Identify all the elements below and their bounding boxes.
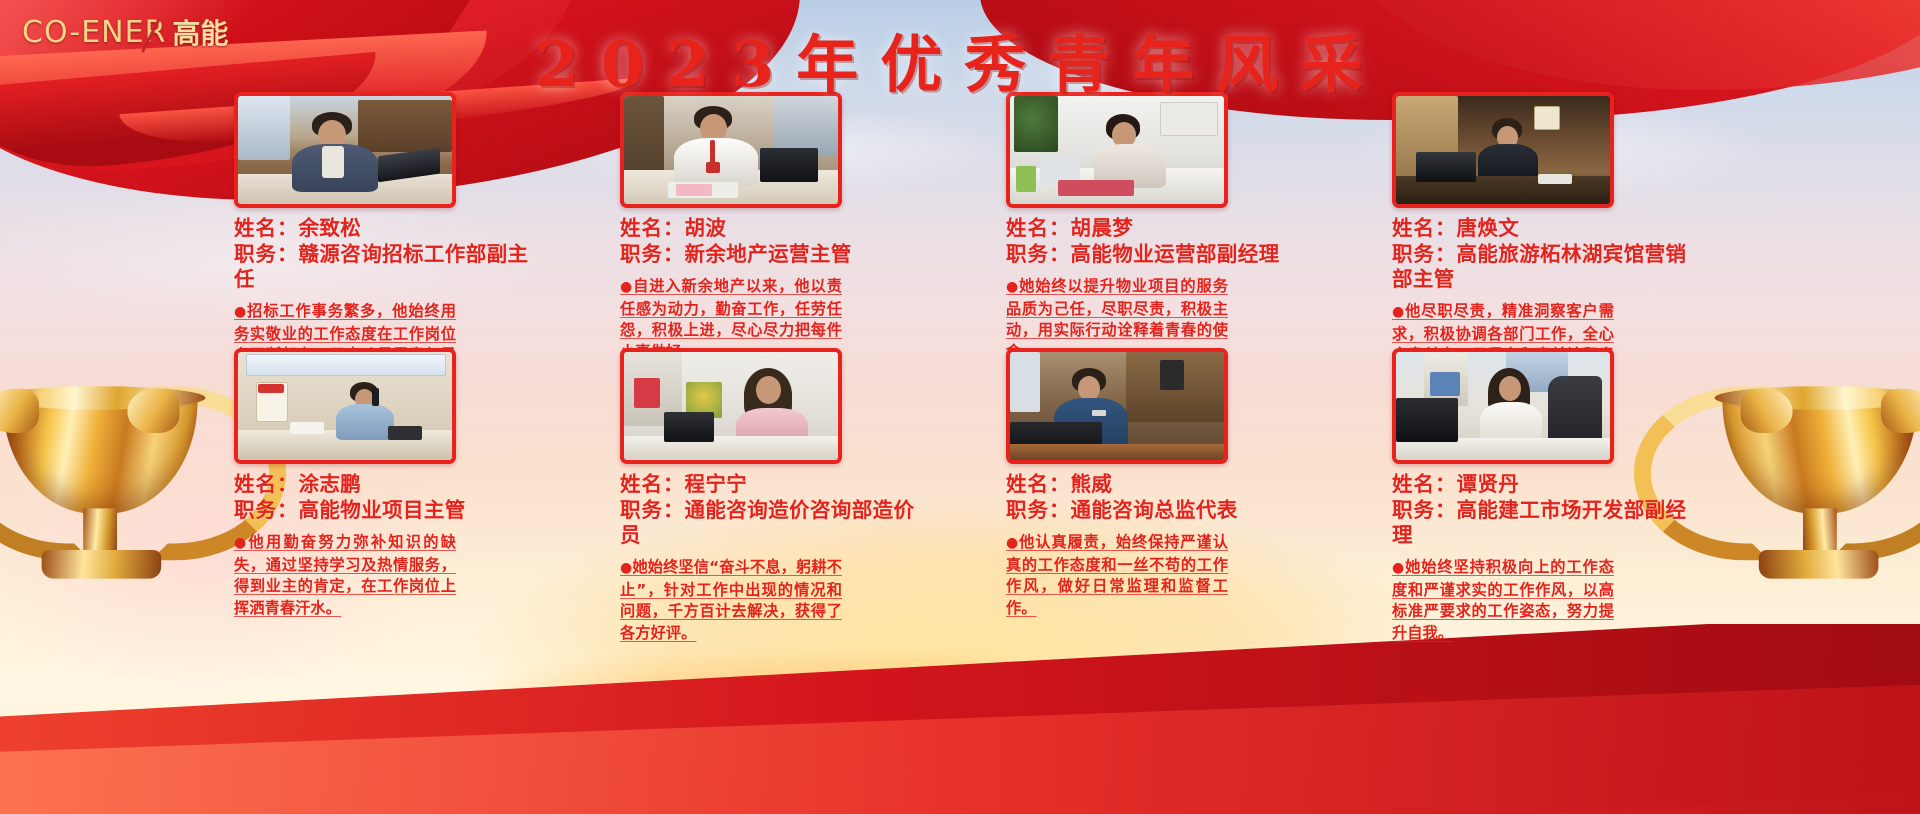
profile-name-line: 姓名：谭贤丹 (1392, 472, 1692, 497)
description-text: 他用勤奋努力弥补知识的缺失，通过坚持学习及热情服务，得到业主的肯定，在工作岗位上… (234, 533, 456, 617)
person-name: 熊威 (1071, 472, 1113, 496)
person-role: 高能物业运营部副经理 (1071, 242, 1280, 266)
photo-scene-man-at-desk-with-laptop (238, 96, 452, 204)
profile-photo (620, 348, 842, 464)
trophy-ornament-left (1881, 389, 1920, 433)
person-role: 高能物业项目主管 (299, 498, 466, 522)
profile-role-line: 职务：赣源咨询招标工作部副主任 (234, 242, 534, 292)
profile-card: 姓名：程宁宁 职务：通能咨询造价咨询部造价员 ●她始终坚信“奋斗不息，躬耕不止”… (620, 348, 920, 600)
trophy-rim (0, 386, 205, 409)
role-label: 职务： (1392, 242, 1457, 266)
trophy-ornament-right (1741, 389, 1793, 433)
profile-photo (620, 92, 842, 208)
person-name: 胡波 (685, 216, 727, 240)
bottom-ribbon-band-3 (485, 646, 1920, 814)
profile-role-line: 职务：高能旅游柘林湖宾馆营销部主管 (1392, 242, 1692, 292)
trophy-base (42, 550, 162, 579)
description-text: 他认真履责，始终保持严谨认真的工作态度和一丝不苟的工作作风，做好日常监理和监督工… (1006, 533, 1228, 617)
photo-scene-man-at-hotel-front-desk (1396, 96, 1610, 204)
person-name: 谭贤丹 (1457, 472, 1520, 496)
bottom-ribbon (0, 624, 1920, 814)
profile-photo (1392, 92, 1614, 208)
role-label: 职务： (1392, 498, 1457, 522)
trophy-stem (1803, 508, 1837, 552)
bullet-icon: ● (1006, 279, 1019, 295)
profile-role-line: 职务：通能咨询造价咨询部造价员 (620, 498, 920, 548)
name-label: 姓名： (234, 472, 299, 496)
bullet-icon: ● (1392, 560, 1405, 576)
profile-card: 姓名：胡晨梦 职务：高能物业运营部副经理 ●她始终以提升物业项目的服务品质为己任… (1006, 92, 1306, 344)
profile-card: 姓名：余致松 职务：赣源咨询招标工作部副主任 ●招标工作事务繁多，他始终用务实敬… (234, 92, 534, 344)
profile-name-line: 姓名：熊威 (1006, 472, 1306, 497)
photo-scene-woman-in-white-shirt-at-desk (1396, 352, 1610, 460)
name-label: 姓名： (1392, 472, 1457, 496)
profile-role-line: 职务：高能物业项目主管 (234, 498, 534, 523)
role-label: 职务： (620, 242, 685, 266)
trophy-handle-left (1829, 386, 1920, 560)
profile-name-line: 姓名：涂志鹏 (234, 472, 534, 497)
profile-photo (1006, 92, 1228, 208)
bullet-icon: ● (1006, 535, 1019, 551)
person-name: 涂志鹏 (299, 472, 362, 496)
role-label: 职务： (620, 498, 685, 522)
trophy-handle-left (0, 386, 91, 560)
profile-card: 姓名：熊威 职务：通能咨询总监代表 ●他认真履责，始终保持严谨认真的工作态度和一… (1006, 348, 1306, 600)
profile-role-line: 职务：高能物业运营部副经理 (1006, 242, 1306, 267)
profile-card-grid: 姓名：余致松 职务：赣源咨询招标工作部副主任 ●招标工作事务繁多，他始终用务实敬… (234, 92, 1694, 600)
profile-role-line: 职务：新余地产运营主管 (620, 242, 920, 267)
profile-description: ●她始终坚信“奋斗不息，躬耕不止”，针对工作中出现的情况和问题，千方百计去解决，… (620, 557, 842, 644)
person-name: 胡晨梦 (1071, 216, 1134, 240)
trophy-ornament-left (0, 389, 39, 433)
trophy-base (1759, 550, 1879, 579)
bullet-icon: ● (620, 279, 633, 295)
trophy-rim (1715, 386, 1920, 409)
person-name: 余致松 (299, 216, 362, 240)
profile-name-line: 姓名：程宁宁 (620, 472, 920, 497)
profile-name-line: 姓名：胡晨梦 (1006, 216, 1306, 241)
profile-card: 姓名：涂志鹏 职务：高能物业项目主管 ●他用勤奋努力弥补知识的缺失，通过坚持学习… (234, 348, 534, 600)
name-label: 姓名： (1392, 216, 1457, 240)
bullet-icon: ● (620, 560, 632, 576)
role-label: 职务： (1006, 498, 1071, 522)
bottom-glow (320, 624, 1320, 774)
bottom-ribbon-band-1 (0, 624, 1920, 814)
person-name: 唐焕文 (1457, 216, 1520, 240)
poster-canvas: CO-ENER 高能 2023年优秀青年风采 (0, 0, 1920, 814)
profile-role-line: 职务：高能建工市场开发部副经理 (1392, 498, 1692, 548)
trophy-ornament-right (127, 389, 179, 433)
role-label: 职务： (234, 498, 299, 522)
bottom-ribbon-band-2 (0, 682, 1920, 814)
person-role: 新余地产运营主管 (685, 242, 852, 266)
name-label: 姓名： (234, 216, 299, 240)
photo-scene-man-on-phone-at-service-center (238, 352, 452, 460)
person-name: 程宁宁 (685, 472, 748, 496)
profile-name-line: 姓名：唐焕文 (1392, 216, 1692, 241)
description-text: 她始终坚信“奋斗不息，躬耕不止”，针对工作中出现的情况和问题，千方百计去解决，获… (620, 558, 842, 642)
role-label: 职务： (234, 242, 299, 266)
name-label: 姓名： (620, 472, 685, 496)
profile-card: 姓名：唐焕文 职务：高能旅游柘林湖宾馆营销部主管 ●他尽职尽责，精准洞察客户需求… (1392, 92, 1692, 344)
profile-photo (234, 348, 456, 464)
name-label: 姓名： (1006, 216, 1071, 240)
trophy-cup (1722, 394, 1917, 514)
logo-chinese-name: 高能 (172, 12, 228, 52)
page-title: 2023年优秀青年风采 (0, 14, 1920, 104)
bullet-icon: ● (234, 304, 247, 320)
bullet-icon: ● (234, 535, 249, 551)
photo-scene-woman-at-office-desk (1010, 96, 1224, 204)
profile-photo (1392, 348, 1614, 464)
profile-photo (1006, 348, 1228, 464)
person-role: 通能咨询总监代表 (1071, 498, 1238, 522)
profile-description: ●她始终坚持积极向上的工作态度和严谨求实的工作作风，以高标准严要求的工作姿态，努… (1392, 557, 1614, 644)
role-label: 职务： (1006, 242, 1071, 266)
bullet-icon: ● (1392, 304, 1405, 320)
profile-description: ●他用勤奋努力弥补知识的缺失，通过坚持学习及热情服务，得到业主的肯定，在工作岗位… (234, 532, 456, 619)
name-label: 姓名： (620, 216, 685, 240)
trophy-cup (3, 394, 198, 514)
trophy-stem (83, 508, 117, 552)
photo-scene-man-with-lanyard-at-desk (624, 96, 838, 204)
profile-photo (234, 92, 456, 208)
profile-name-line: 姓名：胡波 (620, 216, 920, 241)
company-logo: CO-ENER 高能 (22, 12, 228, 52)
profile-role-line: 职务：通能咨询总监代表 (1006, 498, 1306, 523)
name-label: 姓名： (1006, 472, 1071, 496)
profile-card: 姓名：胡波 职务：新余地产运营主管 ●自进入新余地产以来，他以责任感为动力，勤奋… (620, 92, 920, 344)
profile-card: 姓名：谭贤丹 职务：高能建工市场开发部副经理 ●她始终坚持积极向上的工作态度和严… (1392, 348, 1692, 600)
photo-scene-woman-at-computer-with-plant (624, 352, 838, 460)
description-text: 她始终坚持积极向上的工作态度和严谨求实的工作作风，以高标准严要求的工作姿态，努力… (1392, 558, 1614, 642)
photo-scene-man-in-blue-jacket-at-monitor (1010, 352, 1224, 460)
profile-name-line: 姓名：余致松 (234, 216, 534, 241)
profile-description: ●他认真履责，始终保持严谨认真的工作态度和一丝不苟的工作作风，做好日常监理和监督… (1006, 532, 1228, 619)
